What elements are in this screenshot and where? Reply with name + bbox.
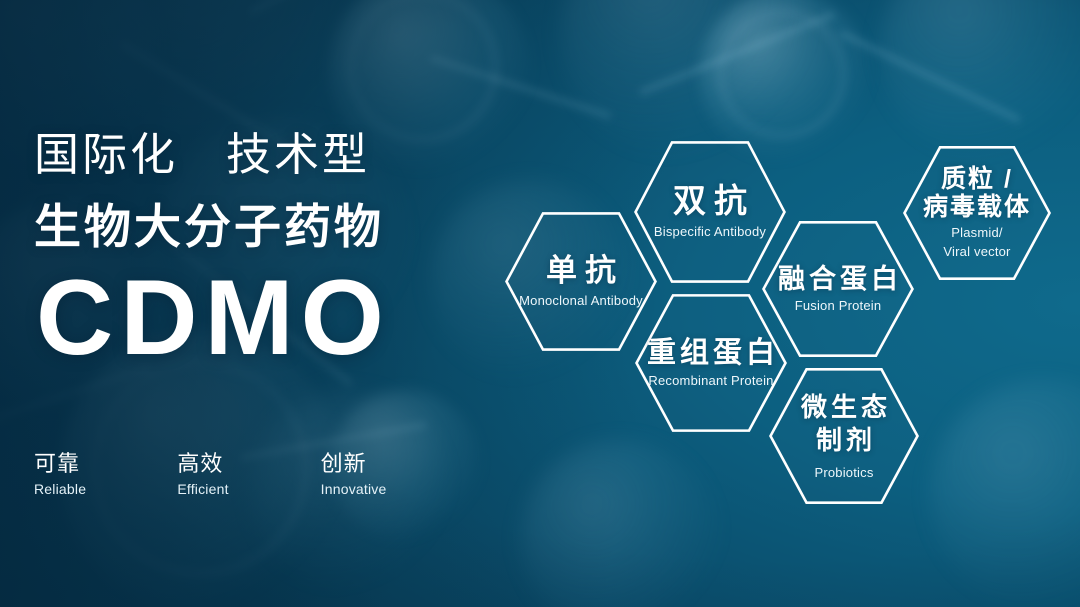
hexagon-fusion-protein[interactable]: 融合蛋白 Fusion Protein bbox=[762, 221, 914, 357]
cdmo-poster: 国际化 技术型 生物大分子药物 CDMO 可靠 Reliable 高效 Effi… bbox=[0, 0, 1080, 607]
service-hexagon-cluster: 单抗 Monoclonal Antibody 双抗 Bispecific Ant… bbox=[0, 0, 1080, 607]
hexagon-plasmid-viral-vector[interactable]: 质粒 / 病毒载体 Plasmid/ Viral vector bbox=[903, 146, 1051, 280]
hexagon-probiotics[interactable]: 微生态 制剂 Probiotics bbox=[769, 368, 919, 504]
